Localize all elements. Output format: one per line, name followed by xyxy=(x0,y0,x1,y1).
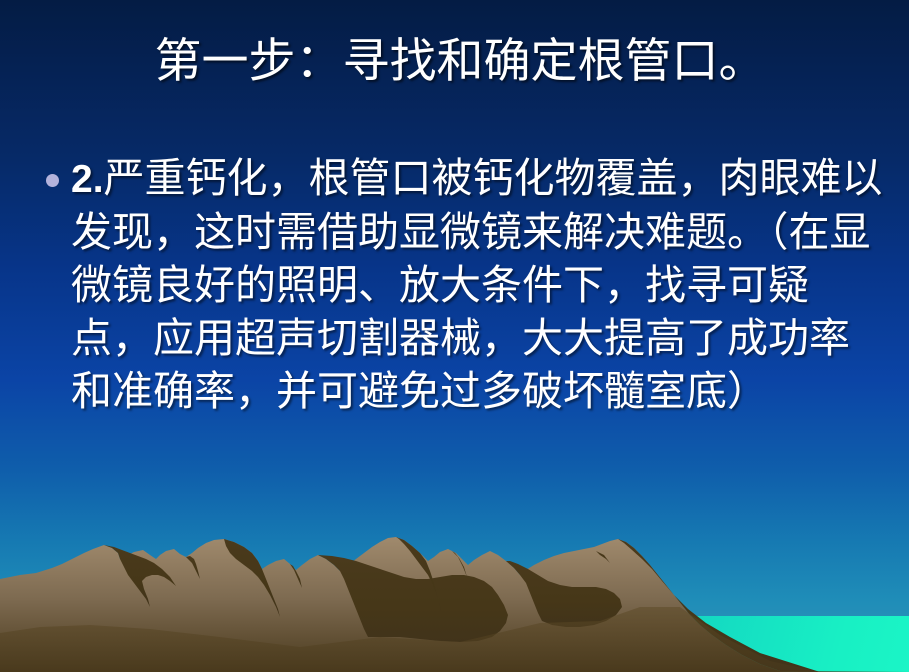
list-item-marker: 2. xyxy=(71,158,104,201)
list-item-body: 严重钙化，根管口被钙化物覆盖，肉眼难以发现，这时需借助显微镜来解决难题。（在显微… xyxy=(71,155,883,414)
slide-title: 第一步：寻找和确定根管口。 xyxy=(60,33,860,91)
mountain-range-silhouette xyxy=(0,537,909,672)
list-item-text: 2.严重钙化，根管口被钙化物覆盖，肉眼难以发现，这时需借助显微镜来解决难题。（在… xyxy=(71,152,886,418)
presentation-slide: 第一步：寻找和确定根管口。 2.严重钙化，根管口被钙化物覆盖，肉眼难以发现，这时… xyxy=(0,0,909,672)
slide-body: 2.严重钙化，根管口被钙化物覆盖，肉眼难以发现，这时需借助显微镜来解决难题。（在… xyxy=(46,152,886,418)
bullet-dot-icon xyxy=(46,174,59,187)
list-item: 2.严重钙化，根管口被钙化物覆盖，肉眼难以发现，这时需借助显微镜来解决难题。（在… xyxy=(46,152,886,418)
